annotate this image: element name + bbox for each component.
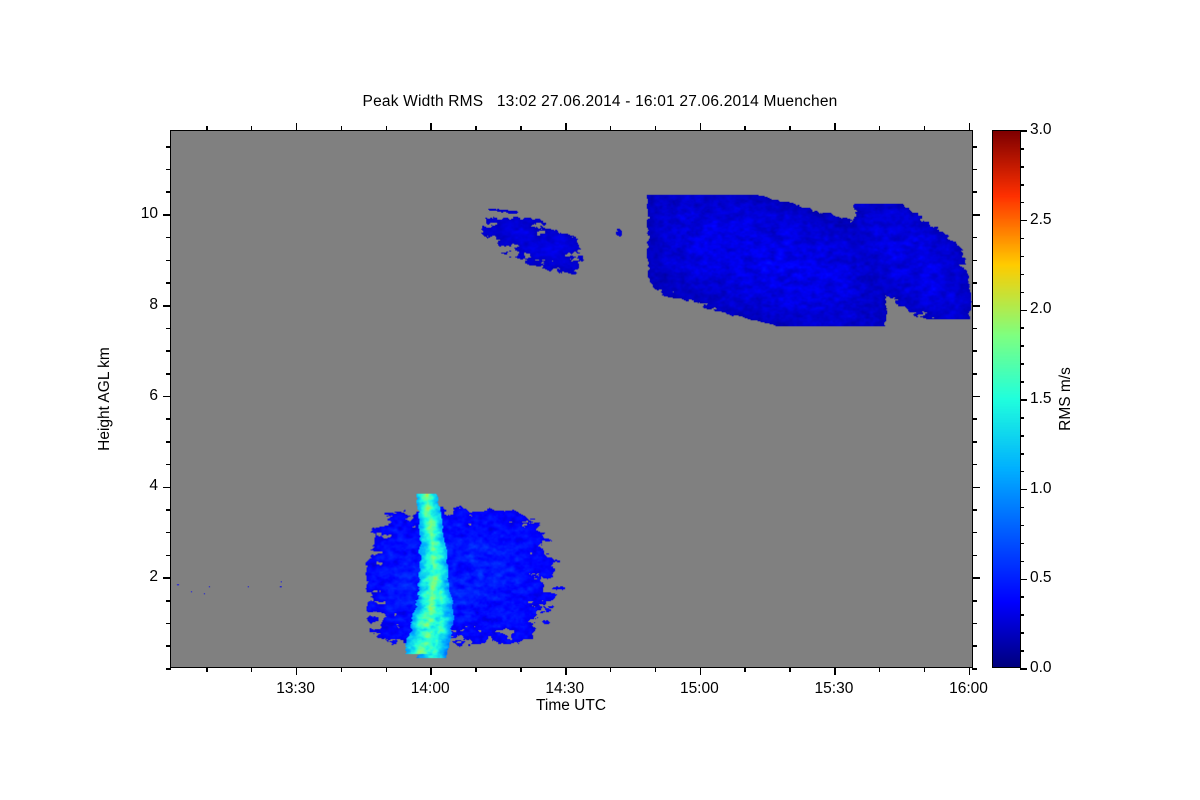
colorbar-tick-minor	[1020, 345, 1024, 347]
y-tick-minor	[166, 191, 171, 193]
y-tick-minor-right	[972, 350, 977, 352]
colorbar-tick-label: 2.0	[1030, 300, 1052, 318]
y-tick-minor-right	[972, 600, 977, 602]
x-tick-label: 14:00	[411, 680, 450, 698]
y-tick-minor	[166, 237, 171, 239]
x-tick-major-top	[969, 123, 971, 131]
colorbar-tick-minor	[1020, 525, 1024, 527]
y-tick-minor-right	[972, 373, 977, 375]
x-tick-minor-top	[206, 126, 208, 131]
x-tick-minor	[520, 667, 522, 672]
colorbar-tick-major	[1020, 489, 1027, 491]
x-tick-minor-top	[251, 126, 253, 131]
y-tick-minor-right	[972, 260, 977, 262]
colorbar-tick-minor	[1020, 238, 1024, 240]
colorbar-tick-minor	[1020, 381, 1024, 383]
x-tick-minor-top	[341, 126, 343, 131]
y-tick-minor-right	[972, 418, 977, 420]
x-tick-label: 13:30	[276, 680, 315, 698]
y-tick-minor-right	[972, 146, 977, 148]
x-tick-major	[969, 667, 971, 675]
x-tick-minor	[251, 667, 253, 672]
x-tick-minor-top	[655, 126, 657, 131]
page-title: Peak Width RMS 13:02 27.06.2014 - 16:01 …	[0, 93, 1200, 111]
x-tick-minor-top	[610, 126, 612, 131]
colorbar-tick-minor	[1020, 292, 1024, 294]
colorbar-tick-minor	[1020, 274, 1024, 276]
y-tick-minor	[166, 146, 171, 148]
y-tick-minor-right	[972, 282, 977, 284]
y-tick-minor	[166, 509, 171, 511]
x-tick-minor-top	[386, 126, 388, 131]
x-tick-label: 15:30	[815, 680, 854, 698]
y-tick-major	[163, 396, 171, 398]
colorbar-tick-major	[1020, 310, 1027, 312]
y-tick-minor	[166, 418, 171, 420]
colorbar-tick-minor	[1020, 417, 1024, 419]
y-tick-major	[163, 577, 171, 579]
x-tick-minor-top	[789, 126, 791, 131]
colorbar-tick-major	[1020, 130, 1027, 132]
y-tick-label: 4	[149, 477, 158, 495]
colorbar-gradient	[993, 131, 1020, 667]
y-tick-minor-right	[972, 169, 977, 171]
x-tick-major	[834, 667, 836, 675]
colorbar-tick-minor	[1020, 561, 1024, 563]
rms-heatmap-canvas[interactable]	[171, 131, 972, 667]
colorbar-tick-minor	[1020, 507, 1024, 509]
colorbar-tick-minor	[1020, 256, 1024, 258]
y-tick-major	[163, 305, 171, 307]
x-tick-major-top	[700, 123, 702, 131]
colorbar-tick-minor	[1020, 650, 1024, 652]
x-tick-minor	[879, 667, 881, 672]
colorbar-tick-label: 3.0	[1030, 121, 1052, 139]
y-tick-minor-right	[972, 532, 977, 534]
y-tick-minor	[166, 645, 171, 647]
y-tick-minor	[166, 623, 171, 625]
y-tick-minor	[166, 464, 171, 466]
y-tick-major-right	[972, 214, 980, 216]
y-tick-major-right	[972, 305, 980, 307]
y-tick-minor-right	[972, 441, 977, 443]
x-tick-major	[700, 667, 702, 675]
y-tick-minor	[166, 441, 171, 443]
y-tick-major-right	[972, 577, 980, 579]
y-tick-minor-right	[972, 328, 977, 330]
x-tick-major	[296, 667, 298, 675]
y-tick-minor	[166, 600, 171, 602]
x-tick-minor-top	[520, 126, 522, 131]
y-tick-minor-right	[972, 237, 977, 239]
colorbar-tick-major	[1020, 399, 1027, 401]
x-tick-minor	[206, 667, 208, 672]
y-axis-title: Height AGL km	[96, 347, 114, 451]
x-tick-minor-top	[475, 126, 477, 131]
colorbar-tick-minor	[1020, 614, 1024, 616]
x-tick-major-top	[565, 123, 567, 131]
y-tick-minor-right	[972, 509, 977, 511]
y-tick-minor-right	[972, 464, 977, 466]
x-tick-minor	[655, 667, 657, 672]
x-tick-major	[565, 667, 567, 675]
x-tick-minor-top	[744, 126, 746, 131]
x-tick-minor	[386, 667, 388, 672]
y-tick-minor-right	[972, 191, 977, 193]
x-axis-title: Time UTC	[536, 697, 606, 715]
x-tick-label: 15:00	[680, 680, 719, 698]
x-tick-minor	[789, 667, 791, 672]
colorbar-tick-minor	[1020, 453, 1024, 455]
colorbar-tick-major	[1020, 668, 1027, 670]
colorbar-tick-minor	[1020, 327, 1024, 329]
y-tick-label: 2	[149, 568, 158, 586]
colorbar-tick-label: 1.5	[1030, 390, 1052, 408]
x-tick-major-top	[834, 123, 836, 131]
y-tick-major-right	[972, 487, 980, 489]
colorbar-tick-major	[1020, 579, 1027, 581]
y-tick-minor	[166, 668, 171, 670]
plot-area[interactable]	[170, 130, 973, 668]
x-tick-label: 16:00	[949, 680, 988, 698]
y-tick-label: 6	[149, 387, 158, 405]
y-tick-label: 8	[149, 296, 158, 314]
colorbar-tick-label: 0.0	[1030, 659, 1052, 677]
y-tick-minor	[166, 328, 171, 330]
x-tick-minor	[475, 667, 477, 672]
x-tick-minor-top	[879, 126, 881, 131]
colorbar-tick-minor	[1020, 184, 1024, 186]
colorbar-tick-minor	[1020, 363, 1024, 365]
lidar-figure: Peak Width RMS 13:02 27.06.2014 - 16:01 …	[0, 0, 1200, 800]
colorbar-tick-minor	[1020, 596, 1024, 598]
x-tick-major	[430, 667, 432, 675]
x-tick-minor	[924, 667, 926, 672]
y-tick-major-right	[972, 396, 980, 398]
y-tick-minor	[166, 555, 171, 557]
colorbar-tick-major	[1020, 220, 1027, 222]
y-tick-minor	[166, 169, 171, 171]
y-tick-minor-right	[972, 645, 977, 647]
colorbar[interactable]	[992, 130, 1021, 668]
y-tick-major	[163, 487, 171, 489]
y-tick-minor-right	[972, 623, 977, 625]
x-tick-minor	[744, 667, 746, 672]
colorbar-tick-label: 0.5	[1030, 569, 1052, 587]
y-tick-label: 10	[141, 205, 158, 223]
y-tick-minor	[166, 260, 171, 262]
colorbar-tick-minor	[1020, 543, 1024, 545]
colorbar-tick-minor	[1020, 148, 1024, 150]
colorbar-title: RMS m/s	[1057, 367, 1075, 431]
x-tick-major-top	[430, 123, 432, 131]
colorbar-tick-minor	[1020, 471, 1024, 473]
colorbar-tick-minor	[1020, 166, 1024, 168]
colorbar-tick-minor	[1020, 202, 1024, 204]
y-tick-minor-right	[972, 668, 977, 670]
y-tick-minor	[166, 282, 171, 284]
x-tick-minor-top	[924, 126, 926, 131]
y-tick-minor	[166, 373, 171, 375]
x-tick-minor	[610, 667, 612, 672]
x-tick-major-top	[296, 123, 298, 131]
colorbar-tick-minor	[1020, 435, 1024, 437]
y-tick-minor	[166, 532, 171, 534]
y-tick-minor	[166, 350, 171, 352]
y-tick-minor-right	[972, 555, 977, 557]
colorbar-tick-minor	[1020, 632, 1024, 634]
x-tick-minor	[341, 667, 343, 672]
colorbar-tick-label: 2.5	[1030, 211, 1052, 229]
y-tick-major	[163, 214, 171, 216]
colorbar-tick-label: 1.0	[1030, 480, 1052, 498]
x-tick-label: 14:30	[545, 680, 584, 698]
